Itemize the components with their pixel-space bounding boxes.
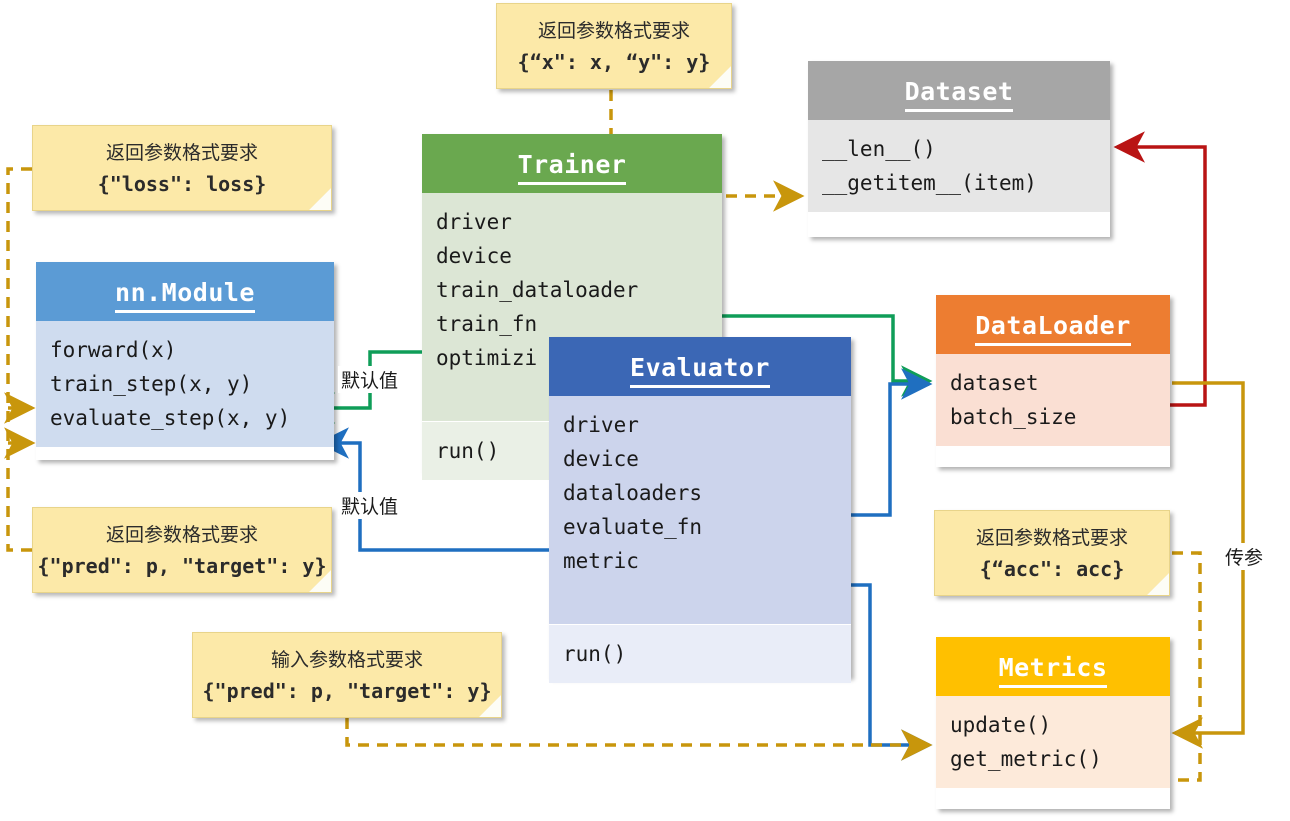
wire-label-pass-param: 传参	[1222, 543, 1266, 570]
wire-label-default-value-evaluate: 默认值	[338, 492, 401, 519]
attribute-item: dataset	[950, 366, 1170, 400]
class-box-evaluator[interactable]: Evaluator driver device dataloaders eval…	[549, 337, 851, 677]
note-line-2: {"pred": p, "target": y}	[193, 675, 501, 707]
wire-loss-note-rail	[8, 169, 32, 550]
note-line-1: 输入参数格式要求	[193, 645, 501, 675]
attribute-item: train_dataloader	[436, 273, 722, 307]
class-title-nn-module: nn.Module	[36, 262, 334, 321]
attribute-item: device	[436, 239, 722, 273]
class-attributes-evaluator: driver device dataloaders evaluate_fn me…	[549, 396, 851, 624]
operation-item: forward(x)	[50, 333, 334, 367]
note-return-format-loss: 返回参数格式要求 {"loss": loss}	[32, 125, 332, 211]
note-line-1: 返回参数格式要求	[33, 138, 331, 168]
note-line-2: {"pred": p, "target": y}	[33, 550, 331, 582]
operation-item: __len__()	[822, 132, 1110, 166]
wire-label-default-value-train: 默认值	[338, 366, 401, 393]
attribute-item: evaluate_fn	[563, 510, 851, 544]
class-box-dataloader[interactable]: DataLoader dataset batch_size	[936, 295, 1170, 467]
class-box-metrics[interactable]: Metrics update() get_metric()	[936, 637, 1170, 809]
attribute-item: dataloaders	[563, 476, 851, 510]
note-line-1: 返回参数格式要求	[497, 16, 731, 46]
class-title-dataloader: DataLoader	[936, 295, 1170, 354]
attribute-item: device	[563, 442, 851, 476]
class-title-evaluator: Evaluator	[549, 337, 851, 396]
attribute-item: batch_size	[950, 400, 1170, 434]
class-operations-dataset: __len__() __getitem__(item)	[808, 120, 1110, 212]
operation-item: __getitem__(item)	[822, 166, 1110, 200]
note-return-format-xy: 返回参数格式要求 {“x": x, “y": y}	[496, 3, 732, 89]
note-input-format-pred-target: 输入参数格式要求 {"pred": p, "target": y}	[192, 632, 502, 718]
note-fold-icon	[309, 188, 331, 210]
note-line-2: {“x": x, “y": y}	[497, 46, 731, 78]
note-line-2: {"loss": loss}	[33, 168, 331, 200]
note-line-1: 返回参数格式要求	[33, 520, 331, 550]
note-fold-icon	[309, 570, 331, 592]
operation-item: train_step(x, y)	[50, 367, 334, 401]
class-box-nn-module[interactable]: nn.Module forward(x) train_step(x, y) ev…	[36, 262, 334, 460]
attribute-item: metric	[563, 544, 851, 578]
attribute-item: driver	[436, 205, 722, 239]
operation-item: get_metric()	[950, 742, 1170, 776]
attribute-item: train_fn	[436, 307, 722, 341]
note-line-2: {“acc": acc}	[935, 553, 1169, 585]
operation-item: evaluate_step(x, y)	[50, 401, 334, 435]
attribute-item: driver	[563, 408, 851, 442]
class-title-dataset: Dataset	[808, 61, 1110, 120]
wire-input-note-to-update	[347, 718, 929, 745]
note-fold-icon	[1147, 573, 1169, 595]
note-fold-icon	[479, 695, 501, 717]
class-operations-evaluator: run()	[549, 624, 851, 683]
note-return-format-pred-target: 返回参数格式要求 {"pred": p, "target": y}	[32, 507, 332, 593]
diagram-canvas: Dataset __len__() __getitem__(item) Data…	[0, 0, 1290, 821]
note-return-format-acc: 返回参数格式要求 {“acc": acc}	[934, 510, 1170, 596]
class-operations-nn-module: forward(x) train_step(x, y) evaluate_ste…	[36, 321, 334, 447]
operation-item: update()	[950, 708, 1170, 742]
class-title-trainer: Trainer	[422, 134, 722, 193]
note-line-1: 返回参数格式要求	[935, 523, 1169, 553]
class-operations-metrics: update() get_metric()	[936, 696, 1170, 788]
class-box-dataset[interactable]: Dataset __len__() __getitem__(item)	[808, 61, 1110, 237]
operation-item: run()	[563, 637, 851, 671]
note-fold-icon	[709, 66, 731, 88]
class-title-metrics: Metrics	[936, 637, 1170, 696]
class-attributes-dataloader: dataset batch_size	[936, 354, 1170, 446]
